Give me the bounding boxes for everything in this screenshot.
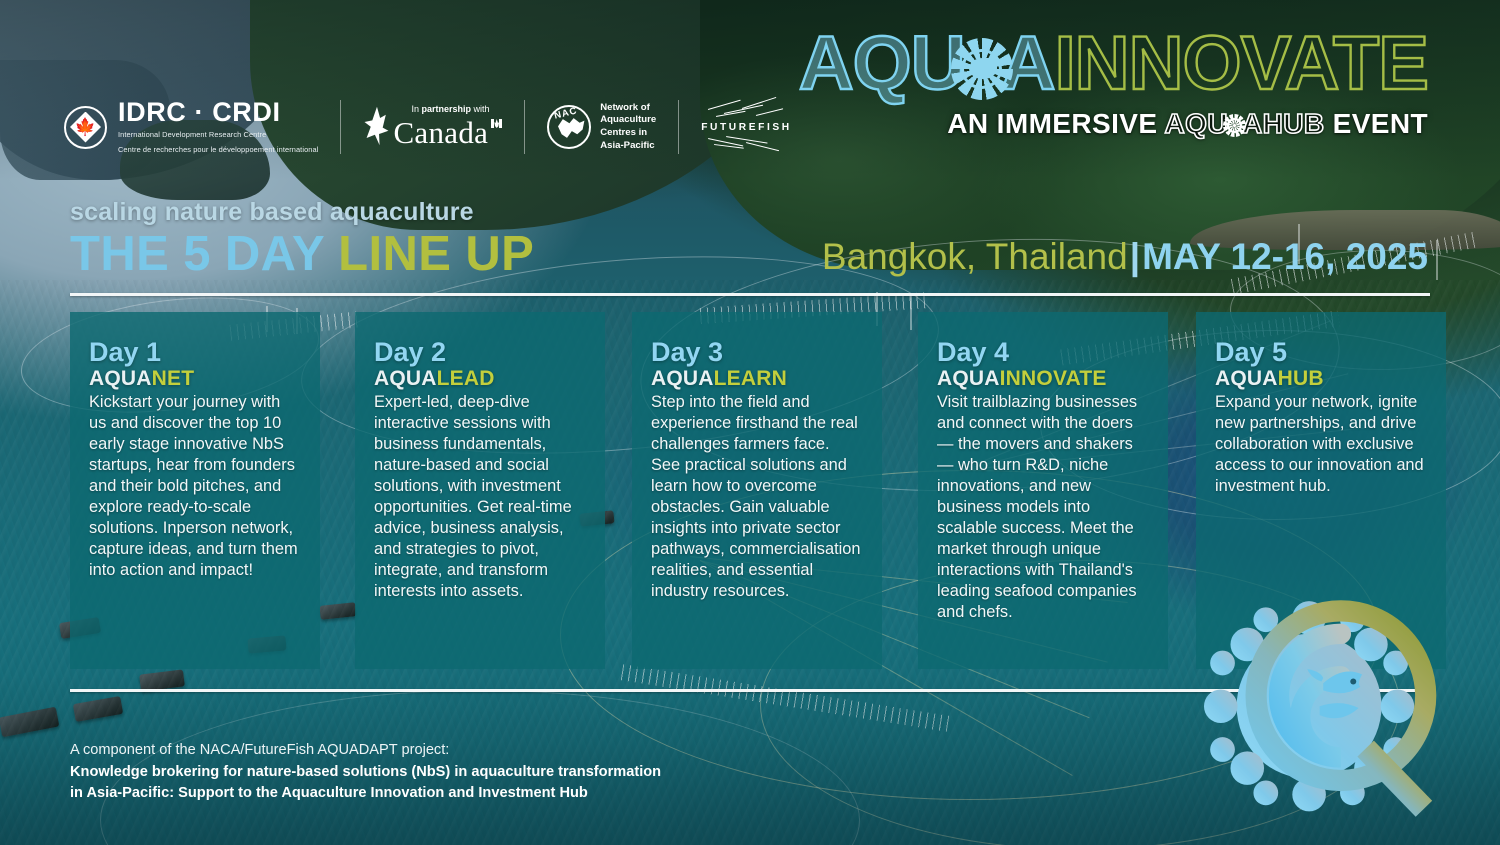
- footer-line-3: in Asia-Pacific: Support to the Aquacult…: [70, 783, 661, 805]
- day-title: AQUALEARN: [651, 367, 863, 390]
- day-label: Day 5: [1215, 338, 1427, 366]
- hero-tagline: scaling nature based aquaculture THE 5 D…: [70, 198, 534, 280]
- footer-line-1: A component of the NACA/FutureFish AQUAD…: [70, 740, 661, 762]
- day-description: Expert-led, deep-dive interactive sessio…: [374, 392, 586, 602]
- day-label: Day 3: [651, 338, 863, 366]
- day-description: Step into the field and experience first…: [651, 392, 863, 602]
- partner-logo-bar: 🍁 IDRC · CRDI International Development …: [64, 96, 792, 158]
- gear-icon-small: [1223, 114, 1246, 137]
- location-date-separator: |: [1128, 236, 1142, 277]
- event-city: Bangkok, Thailand: [822, 236, 1128, 277]
- aquahub-gear-fish-q-icon: [1190, 572, 1460, 837]
- naca-line-4: Asia-Pacific: [600, 140, 656, 153]
- day-card[interactable]: Day 3 AQUALEARN Step into the field and …: [632, 312, 882, 669]
- futurefish-fish-icon-top: [702, 106, 790, 121]
- day-label: Day 4: [937, 338, 1149, 366]
- logo-naca: NAC Network of Aquaculture Centres in As…: [547, 102, 656, 153]
- naca-globe-icon: NAC: [547, 105, 591, 149]
- naca-line-1: Network of: [600, 102, 656, 115]
- idrc-tagline-en: International Development Research Centr…: [118, 130, 318, 141]
- logo-idrc: 🍁 IDRC · CRDI International Development …: [64, 99, 318, 155]
- day-card[interactable]: Day 2 AQUALEAD Expert-led, deep-dive int…: [355, 312, 605, 669]
- event-subtitle: AN IMMERSIVE AQUAHUB EVENT: [799, 108, 1428, 140]
- futurefish-wordmark: FUTUREFISH: [701, 122, 792, 133]
- logo-futurefish: FUTUREFISH: [701, 106, 792, 149]
- day-title: AQUAINNOVATE: [937, 367, 1149, 390]
- gear-icon: [951, 38, 1013, 100]
- idrc-maple-leaf-icon: 🍁: [64, 106, 107, 149]
- day-description: Visit trailblazing businesses and connec…: [937, 392, 1149, 623]
- day-title: AQUAHUB: [1215, 367, 1427, 390]
- canada-flag-mini-icon: [491, 119, 502, 128]
- event-location-date: Bangkok, Thailand|MAY 12-16, 2025: [822, 238, 1428, 275]
- poster-canvas: 🍁 IDRC · CRDI International Development …: [0, 0, 1500, 845]
- event-dates: MAY 12-16, 2025: [1142, 236, 1428, 277]
- naca-line-2: Aquaculture: [600, 114, 656, 127]
- idrc-tagline-fr: Centre de recherches pour le développoem…: [118, 145, 318, 156]
- aquainnovate-logotype: AQUAINNOVATE: [799, 26, 1428, 102]
- logo-canada: In partnership with Canada: [363, 106, 502, 148]
- event-wordmark: AQUAINNOVATE AN IMMERSIVE AQUAHUB EVENT: [799, 26, 1428, 140]
- naca-line-3: Centres in: [600, 127, 656, 140]
- day-title: AQUALEAD: [374, 367, 586, 390]
- day-card[interactable]: Day 1 AQUANET Kickstart your journey wit…: [70, 312, 320, 669]
- canada-flag-icon: [363, 106, 389, 146]
- logo-divider: [340, 100, 341, 154]
- footer-credit: A component of the NACA/FutureFish AQUAD…: [70, 740, 661, 805]
- hero-title: THE 5 DAY LINE UP: [70, 229, 534, 280]
- partnership-label: In partnership with: [411, 104, 489, 114]
- day-description: Kickstart your journey with us and disco…: [89, 392, 301, 581]
- futurefish-fish-icon-bottom: [702, 134, 790, 149]
- poster-content: 🍁 IDRC · CRDI International Development …: [0, 0, 1500, 845]
- day-title: AQUANET: [89, 367, 301, 390]
- footer-line-2: Knowledge brokering for nature-based sol…: [70, 762, 661, 784]
- logo-divider: [524, 100, 525, 154]
- idrc-name: IDRC · CRDI: [118, 99, 318, 126]
- day-card[interactable]: Day 4 AQUAINNOVATE Visit trailblazing bu…: [918, 312, 1168, 669]
- divider-top: [70, 293, 1430, 296]
- hero-kicker: scaling nature based aquaculture: [70, 198, 534, 227]
- logo-divider: [678, 100, 679, 154]
- day-description: Expand your network, ignite new partners…: [1215, 392, 1427, 497]
- canada-wordmark: Canada: [393, 117, 502, 148]
- day-label: Day 1: [89, 338, 301, 366]
- day-label: Day 2: [374, 338, 586, 366]
